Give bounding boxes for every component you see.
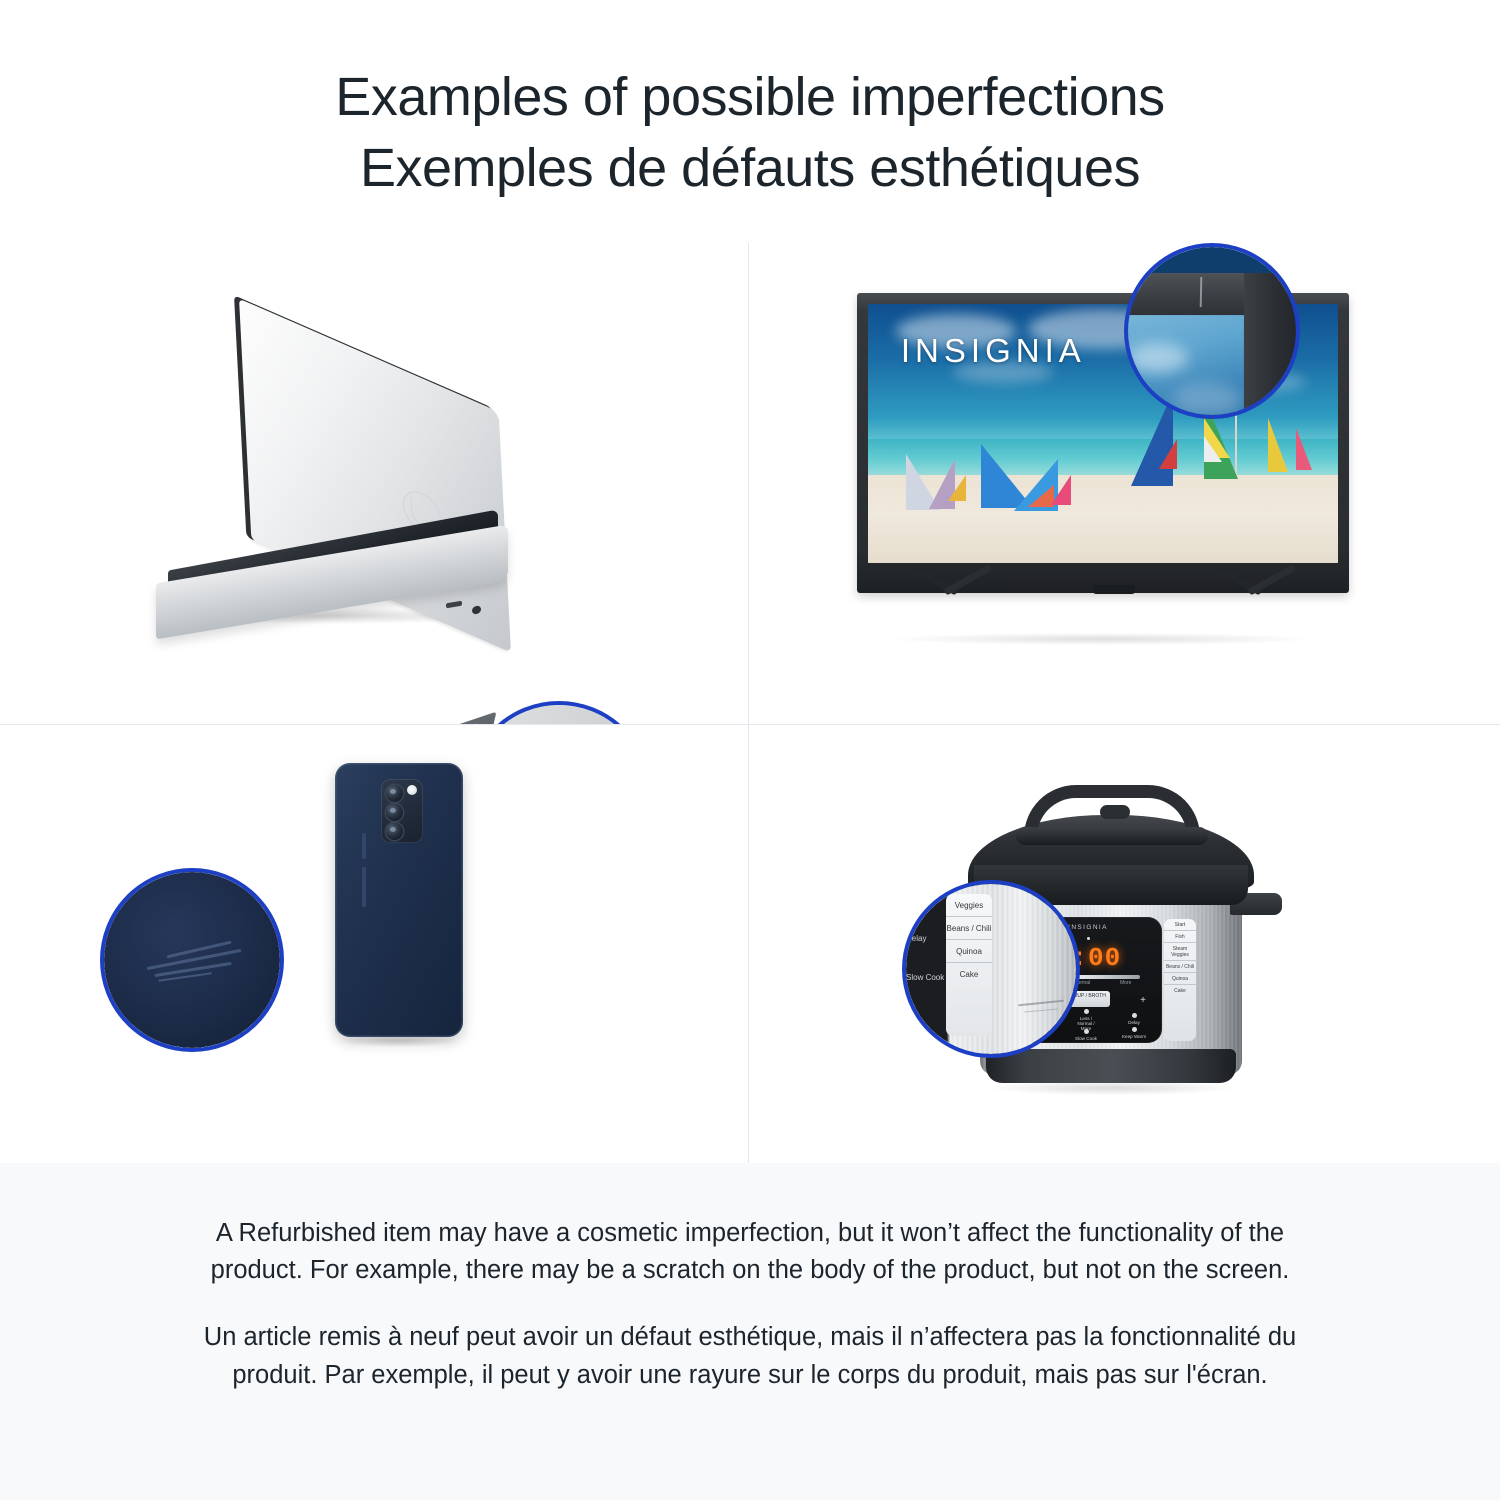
cooker-level-label-more: More [1120,980,1131,986]
grid-horizontal-divider [0,724,1500,725]
cooker-right-button-column[interactable]: Start Fish Steam Veggies Beans / Chili Q… [1164,919,1196,1041]
cooker-row-button[interactable]: Delay [1120,1013,1148,1025]
cooker-increase-button[interactable]: + [1140,995,1146,1006]
tv-ir-receiver [1093,585,1135,594]
tv-illustration: INSIGNIA [857,293,1387,663]
phone-camera-module [381,779,423,843]
tv-picture-zoom [1128,313,1246,415]
cooker-key[interactable]: Quinoa [1164,972,1196,984]
cooker-indicator-light [1087,937,1090,940]
page-title-en: Examples of possible imperfections [0,62,1500,133]
phone-power-button [362,867,366,907]
examples-grid: INSIGNIA [0,243,1500,1163]
magnifier-circle-phone [100,868,284,1052]
cooker-zoom-key[interactable]: Quinoa [946,939,992,962]
refurbished-imperfections-infographic: Examples of possible imperfections Exemp… [0,0,1500,1500]
tv-stand-right [1209,589,1301,633]
example-cell-phone [0,728,748,1163]
footer-description: A Refurbished item may have a cosmetic i… [0,1163,1500,1500]
footer-paragraph-fr: Un article remis à neuf peut avoir un dé… [180,1319,1320,1393]
phone-illustration [305,763,485,1113]
cooker-key[interactable]: Cake [1164,984,1196,996]
magnifier-circle-tv [1124,243,1300,419]
camera-lens-icon [386,804,403,821]
cooker-key[interactable]: Start [1164,919,1196,930]
tv-bezel-right-zoom [1244,273,1296,415]
page-title-fr: Exemples de défauts esthétiques [0,133,1500,204]
cooker-key[interactable]: Fish [1164,930,1196,942]
camera-flash-icon [407,785,417,795]
example-cell-tv: INSIGNIA [752,243,1500,724]
magnifier-circle-cooker: Delay Slow Cook Veggies Beans / Chili Qu… [902,880,1080,1058]
cooker-row-button[interactable]: Less / Normal / More [1072,1009,1100,1031]
tv-stand-left [905,589,997,633]
laptop-lid-surface-zoom [470,705,648,724]
cooker-lid-handle-bar [1016,827,1208,845]
cooker-zoom-key[interactable]: Veggies [946,894,992,916]
cooker-row-button[interactable]: Keep Warm [1120,1027,1148,1039]
cooker-zoom-left-labels: Delay Slow Cook [906,934,946,982]
camera-lens-icon [386,823,403,840]
cooker-key[interactable]: Steam Veggies [1164,942,1196,960]
camera-lens-icon [386,785,403,802]
tv-bezel-zoom [1128,247,1296,415]
footer-paragraph-en: A Refurbished item may have a cosmetic i… [180,1215,1320,1289]
cooker-zoom-left-label: Slow Cook [906,973,946,982]
page-title: Examples of possible imperfections Exemp… [0,62,1500,205]
cooker-zoom-key[interactable]: Beans / Chili [946,916,992,939]
cooker-pressure-valve [1100,805,1130,819]
cooker-zoom-button-column[interactable]: Veggies Beans / Chili Quinoa Cake [946,894,992,1036]
grid-vertical-divider [748,243,749,1163]
phone-volume-button [362,833,366,859]
cooker-base [986,1049,1236,1083]
laptop-keyboard [260,712,497,724]
page-header: Examples of possible imperfections Exemp… [0,0,1500,205]
example-cell-cooker: Cancel Rice Slow Cook Soup Start Delay K… [752,728,1500,1163]
tv-shadow [897,633,1307,645]
cooker-zoom-left-label: Delay [906,934,946,943]
example-cell-laptop [0,243,748,724]
phone-body [335,763,463,1037]
laptop-illustration [150,358,570,648]
cooker-zoom-key[interactable]: Cake [946,962,992,985]
cooker-key[interactable]: Beans / Chili [1164,960,1196,972]
cooker-shadow [994,1081,1230,1095]
cooker-row-button[interactable]: Slow Cook [1072,1029,1100,1041]
tv-screen-brand-logo: INSIGNIA [901,332,1086,370]
